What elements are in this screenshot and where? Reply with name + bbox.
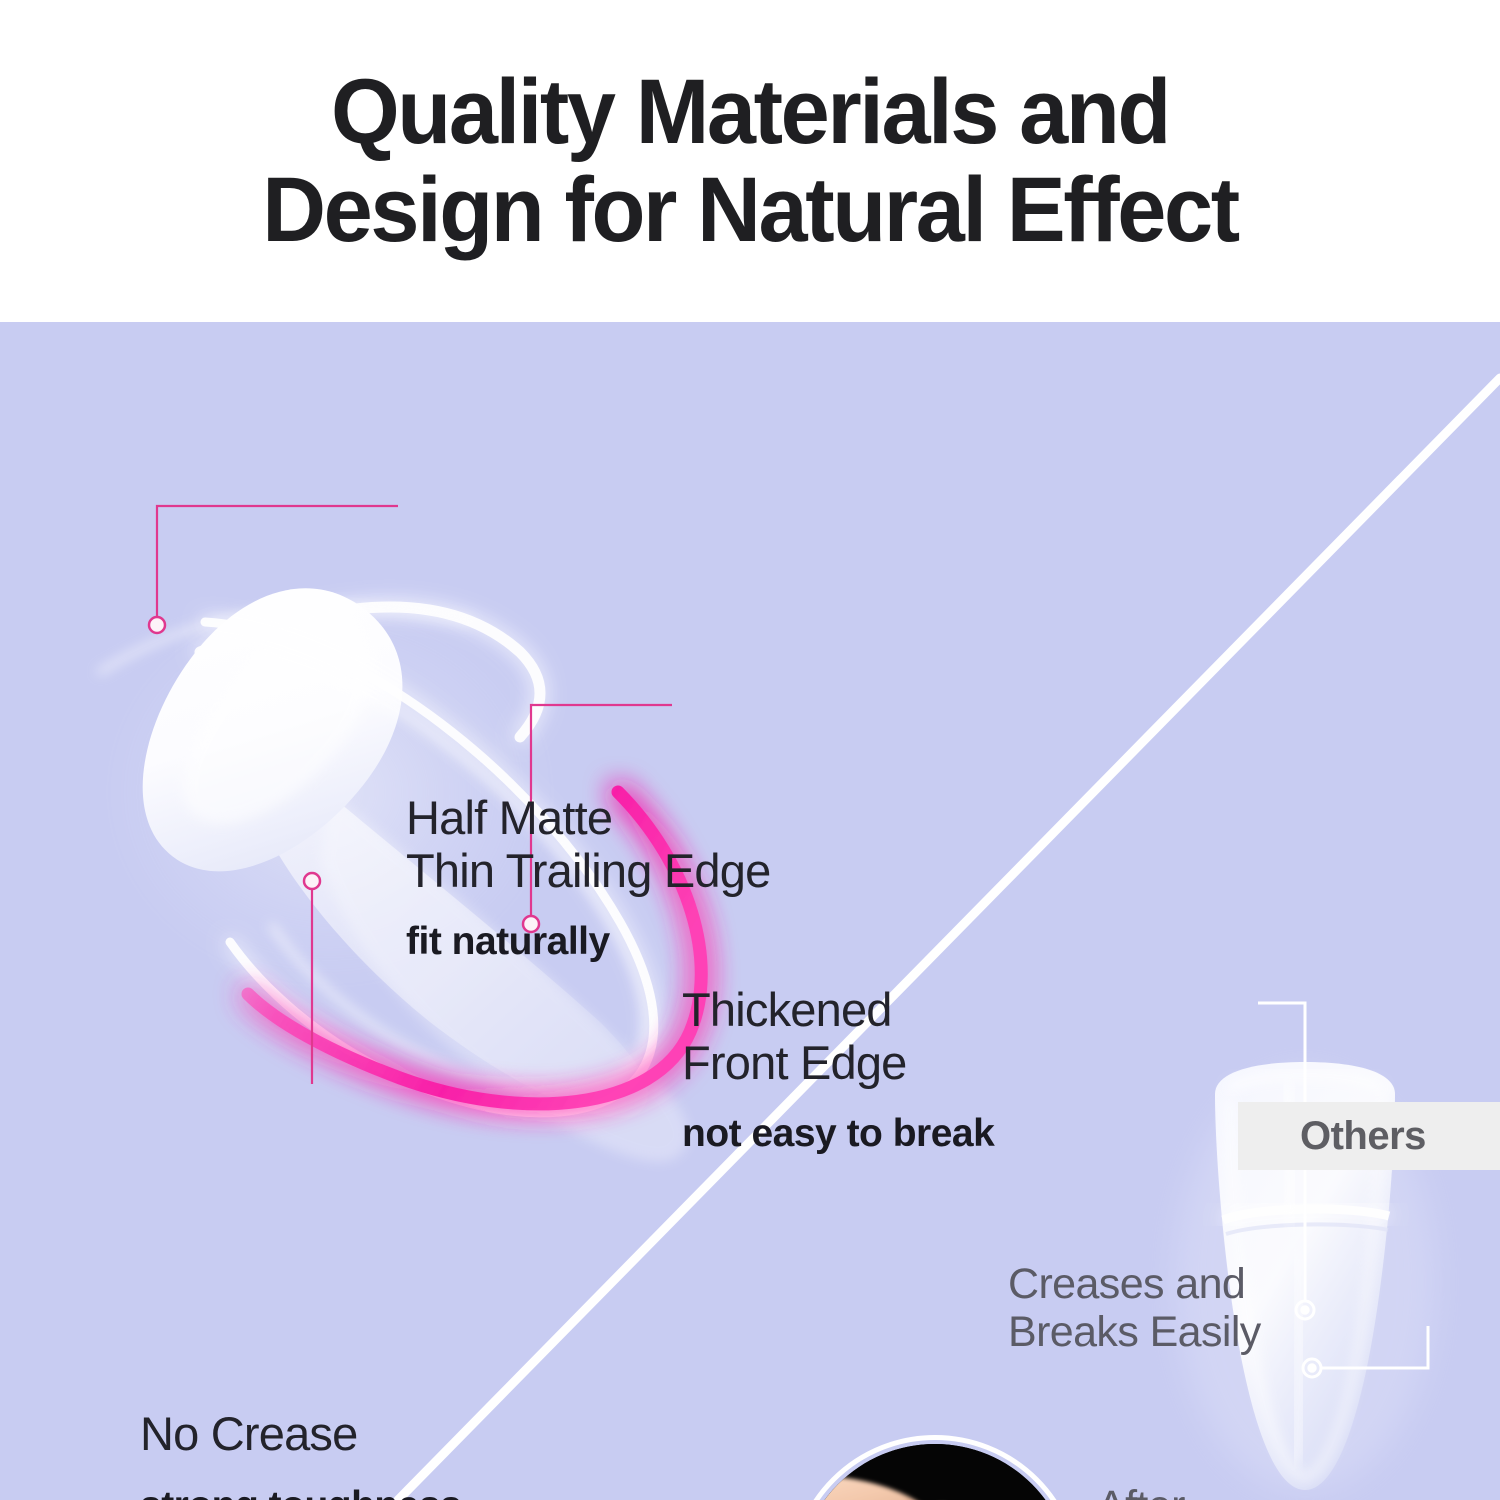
callout-thickened-sub: not easy to break <box>682 1111 994 1158</box>
infographic-page: Quality Materials and Design for Natural… <box>0 0 1500 1500</box>
page-title-line-1: Quality Materials and <box>150 63 1350 161</box>
page-title: Quality Materials and Design for Natural… <box>150 63 1350 260</box>
callout-no-crease-head: No Crease <box>140 1408 461 1461</box>
callout-no-crease: No Crease strong toughness <box>140 1408 461 1500</box>
label-creases-breaks-easily: Creases and Breaks Easily <box>1008 1260 1261 1356</box>
label-after-bend: After Bend <box>1097 1482 1195 1500</box>
callout-thickened-front-edge: Thickened Front Edge not easy to break <box>682 984 994 1158</box>
callout-half-matte-sub: fit naturally <box>406 919 770 966</box>
callout-thickened-head: Thickened Front Edge <box>682 984 994 1089</box>
header-band: Quality Materials and Design for Natural… <box>0 0 1500 322</box>
callout-half-matte: Half Matte Thin Trailing Edge fit natura… <box>406 792 770 966</box>
compare-badge-others: Others <box>1238 1102 1500 1170</box>
compare-badge-label: Others <box>1300 1114 1426 1159</box>
comparison-panel: Half Matte Thin Trailing Edge fit natura… <box>0 322 1500 1500</box>
callout-no-crease-sub: strong toughness <box>140 1483 461 1500</box>
photo-ring <box>789 1435 1081 1500</box>
callout-half-matte-head: Half Matte Thin Trailing Edge <box>406 792 770 897</box>
photo-inset-bend-demo <box>789 1435 1081 1500</box>
page-title-line-2: Design for Natural Effect <box>150 161 1350 259</box>
